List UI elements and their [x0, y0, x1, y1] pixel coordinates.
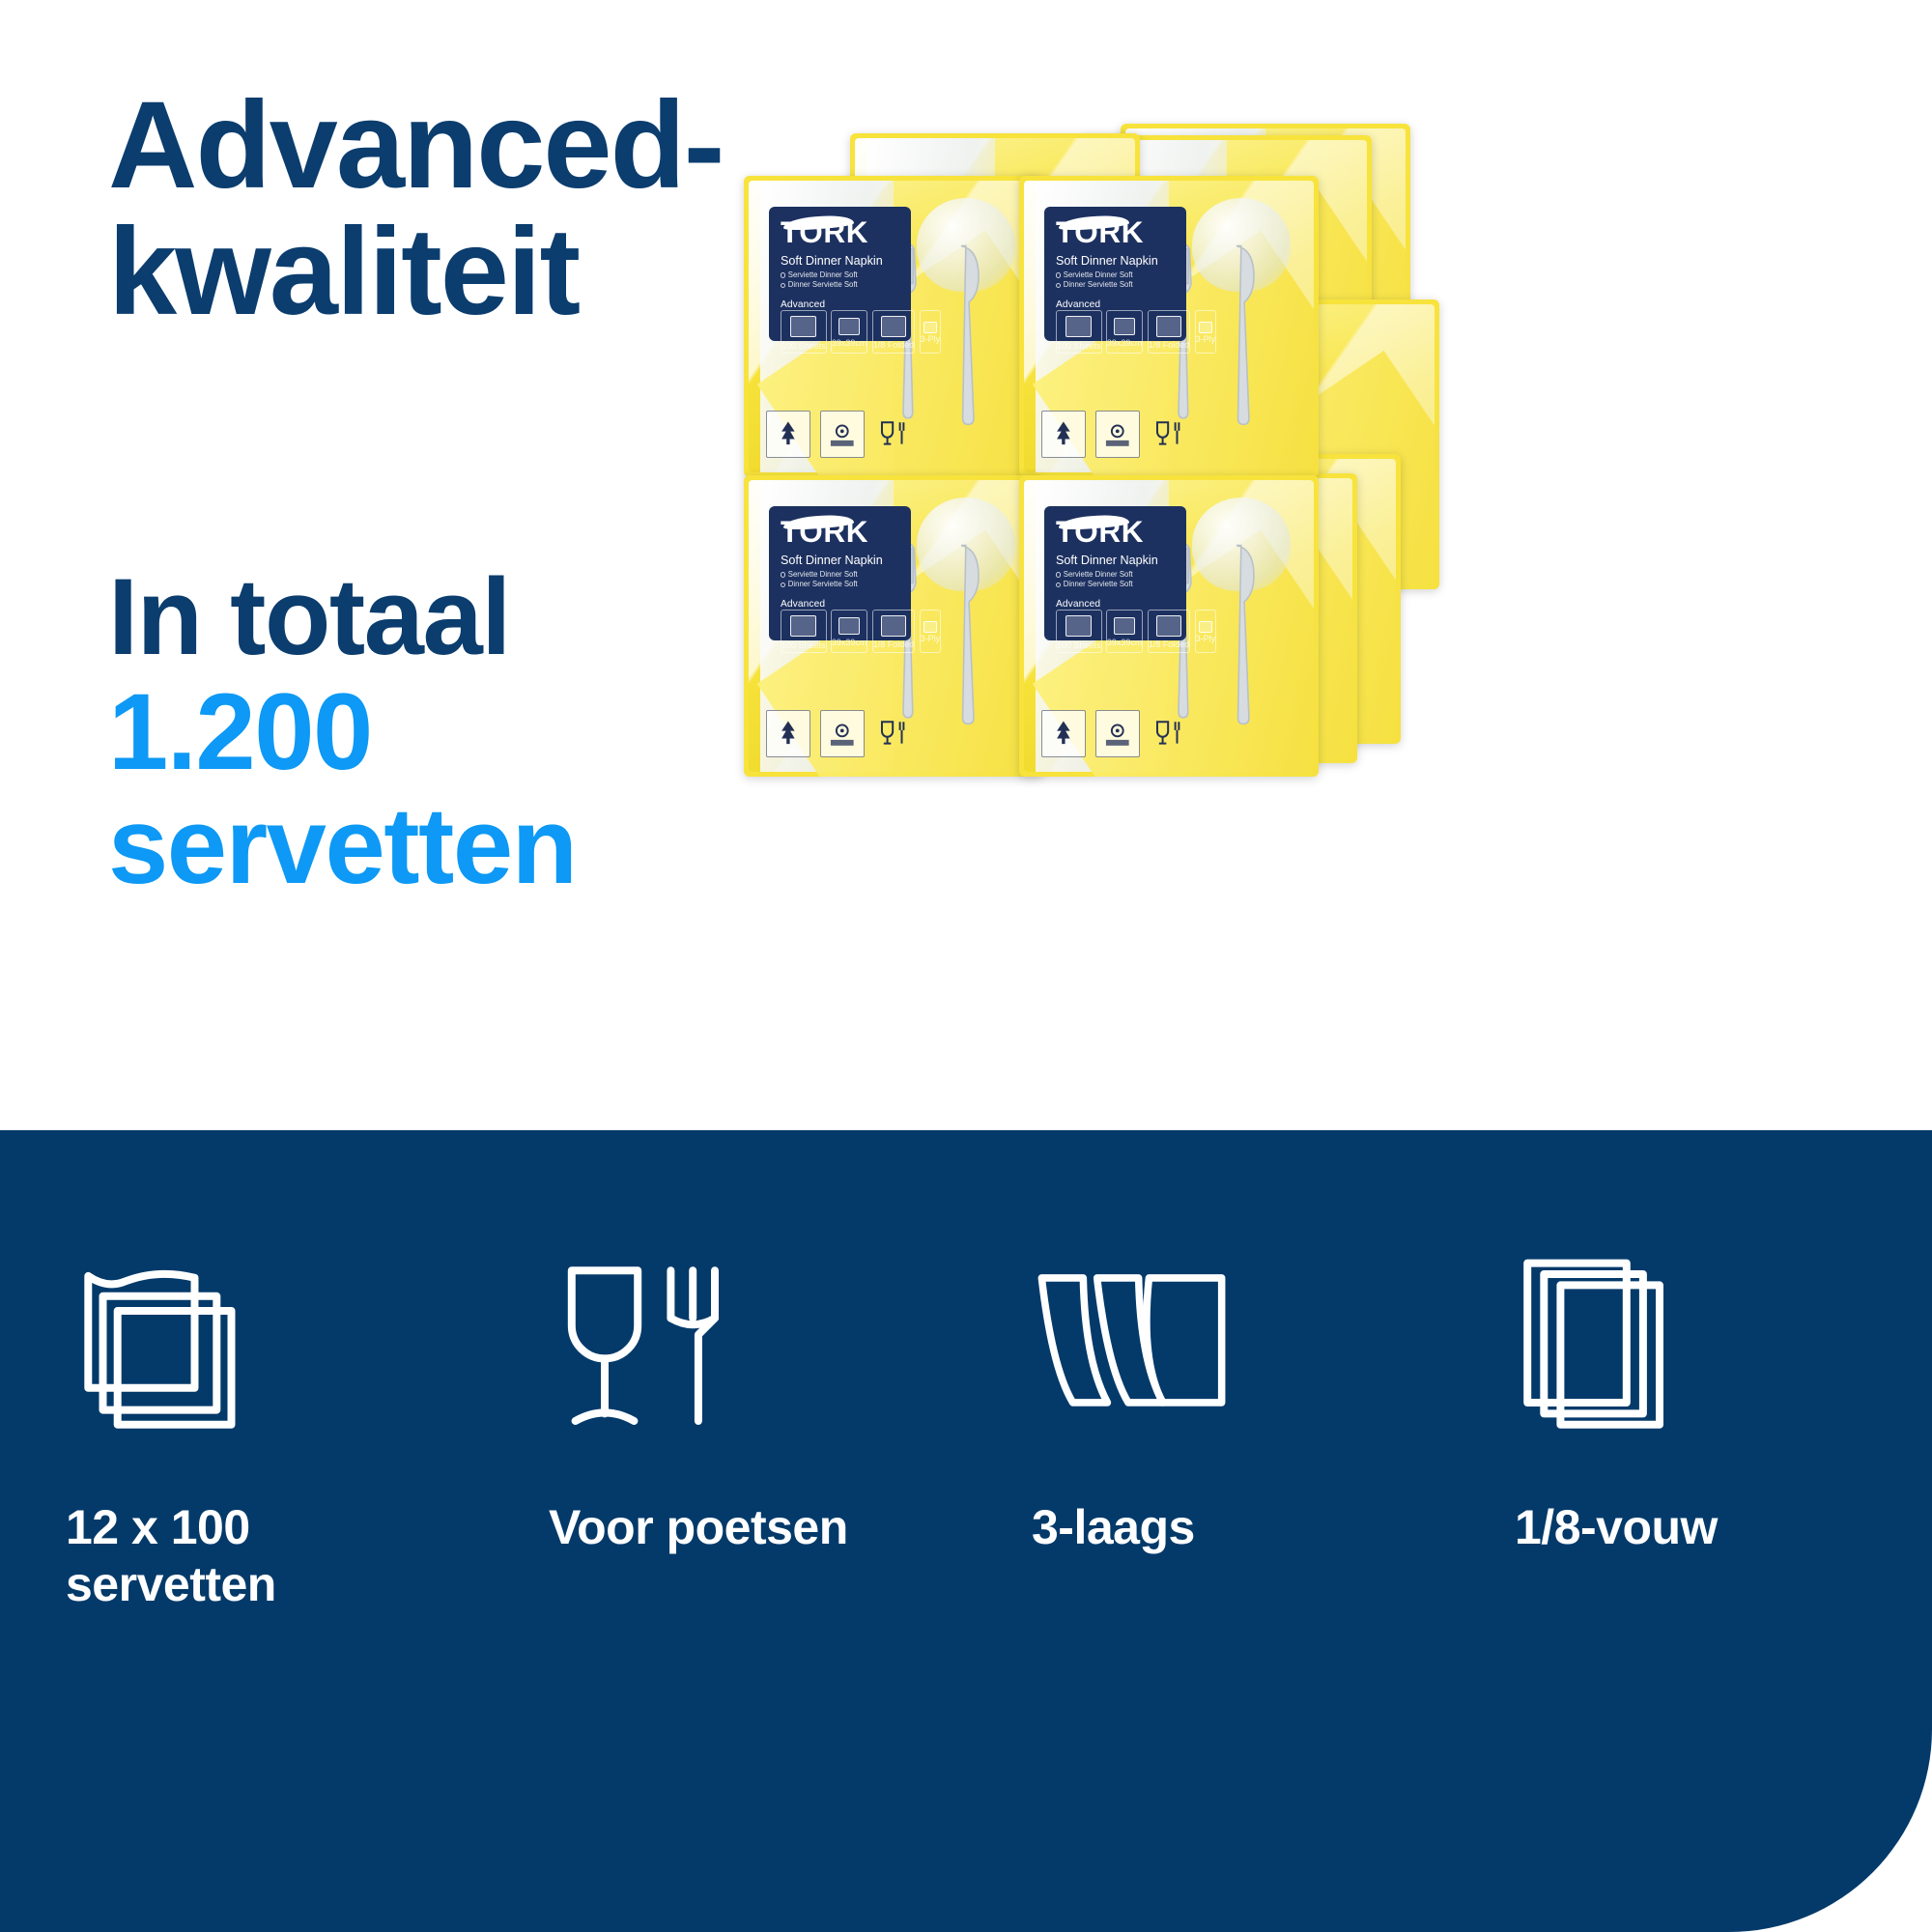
spec-caption: 1/8 Folded [873, 340, 915, 350]
spec-caption: 39x39cm [1107, 338, 1143, 348]
feature-icon-wrap [39, 1246, 444, 1449]
stacked-napkins-icon [66, 1256, 269, 1439]
spec-icon-sheets: 100 Sheets [1056, 310, 1102, 355]
napkin-sheet-icon [790, 316, 816, 337]
page-title: Advanced- kwaliteit [108, 83, 842, 335]
spec-icon-row: 100 Sheets 39x39cm 1/8 Folded [781, 610, 901, 654]
napkin-ply-icon [1199, 621, 1211, 632]
spec-caption: 3-Ply [1196, 334, 1216, 344]
translation-2: Dinner Serviette Soft [788, 580, 858, 588]
napkin-sheet-icon [1065, 615, 1092, 637]
quality-tier: Advanced [1056, 599, 1177, 610]
spec-icon-size: 39x39cm [831, 610, 868, 654]
napkin-fold-icon [1156, 316, 1180, 336]
eu-flower-icon [825, 716, 860, 751]
total-count-unit: servetten [108, 789, 842, 904]
brand-name: TORK [781, 517, 858, 548]
product-name-translations: Serviette Dinner Soft Dinner Serviette S… [1056, 270, 1177, 291]
eighth-fold-napkin-icon [1511, 1256, 1680, 1439]
food-safe-badge [1150, 712, 1192, 757]
translation-2: Dinner Serviette Soft [788, 280, 858, 289]
feature-item-pack-count: 12 x 100 servetten [0, 1130, 483, 1932]
eu-ecolabel-badge [820, 710, 865, 757]
quality-tier: Advanced [1056, 299, 1177, 310]
glass-fork-food-safe-icon [877, 716, 913, 752]
brand-name: TORK [781, 217, 858, 248]
translation-1: Serviette Dinner Soft [1064, 570, 1133, 579]
spec-icon-size: 39x39cm [831, 310, 868, 355]
product-name-translations: Serviette Dinner Soft Dinner Serviette S… [781, 570, 901, 590]
tork-logo: TORK [781, 217, 858, 248]
fsc-tree-icon [1047, 417, 1080, 450]
certification-badges [1041, 411, 1192, 458]
spec-caption: 1/8 Folded [1149, 340, 1190, 350]
glass-fork-food-safe-icon [1152, 716, 1188, 752]
spec-icon-sheets: 100 Sheets [781, 610, 827, 654]
glass-fork-food-safe-icon [877, 416, 913, 452]
translation-2: Dinner Serviette Soft [1064, 580, 1133, 588]
spec-icon-ply: 3-Ply [920, 610, 942, 654]
napkin-ply-icon [923, 322, 936, 332]
tork-logo: TORK [781, 517, 858, 548]
certification-badges [1041, 710, 1192, 757]
fsc-badge [766, 411, 810, 458]
spec-caption: 3-Ply [921, 634, 941, 643]
napkin-size-icon [838, 318, 860, 335]
spec-icon-size: 39x39cm [1106, 610, 1144, 654]
eu-ecolabel-badge [1095, 411, 1140, 458]
spec-caption: 1/8 Folded [873, 639, 915, 649]
product-pack-front: TORK Soft Dinner Napkin Serviette Dinner… [1019, 176, 1319, 477]
product-label-panel: TORK Soft Dinner Napkin Serviette Dinner… [1044, 207, 1186, 341]
headline-line-1: Advanced- [108, 83, 842, 210]
product-label-panel: TORK Soft Dinner Napkin Serviette Dinner… [769, 207, 911, 341]
product-name-translations: Serviette Dinner Soft Dinner Serviette S… [781, 270, 901, 291]
tork-logo: TORK [1056, 517, 1133, 548]
eu-flower-icon [1100, 716, 1135, 751]
product-label-panel: TORK Soft Dinner Napkin Serviette Dinner… [1044, 506, 1186, 640]
product-name: Soft Dinner Napkin [781, 255, 901, 269]
quality-tier: Advanced [781, 299, 901, 310]
bullet-icon [781, 283, 785, 288]
spec-icon-row: 100 Sheets 39x39cm 1/8 Folded [781, 310, 901, 355]
fsc-badge [1041, 710, 1086, 757]
napkin-ply-icon [923, 621, 936, 632]
bullet-icon [781, 272, 785, 277]
product-pack-front: TORK Soft Dinner Napkin Serviette Dinner… [744, 176, 1043, 477]
spec-caption: 3-Ply [1196, 634, 1216, 643]
product-name-translations: Serviette Dinner Soft Dinner Serviette S… [1056, 570, 1177, 590]
fsc-tree-icon [1047, 717, 1080, 750]
total-count-value: 1.200 [108, 675, 842, 790]
spec-icon-fold: 1/8 Folded [872, 610, 916, 654]
quality-tier: Advanced [781, 599, 901, 610]
napkin-size-icon [1114, 318, 1135, 335]
product-pack-stack: TORK Soft Dinner Napkin Serviette Dinner… [734, 116, 1430, 811]
spec-icon-sheets: 100 Sheets [781, 310, 827, 355]
certification-badges [766, 710, 917, 757]
feature-label: 3-laags [1005, 1499, 1410, 1556]
spec-caption: 100 Sheets [781, 640, 826, 650]
feature-icon-wrap [522, 1246, 927, 1449]
spec-caption: 3-Ply [921, 334, 941, 344]
spec-caption: 100 Sheets [1057, 341, 1101, 351]
feature-item-ply: 3-laags [966, 1130, 1449, 1932]
eu-flower-icon [1100, 416, 1135, 451]
headline-line-2: kwaliteit [108, 210, 842, 336]
bullet-icon [781, 582, 785, 587]
feature-panel: 12 x 100 servetten Voor poetsen [0, 1130, 1932, 1932]
translation-1: Serviette Dinner Soft [788, 570, 858, 579]
three-ply-layers-icon [1028, 1259, 1236, 1437]
feature-item-usage: Voor poetsen [483, 1130, 966, 1932]
spec-caption: 1/8 Folded [1149, 639, 1190, 649]
spec-caption: 39x39cm [832, 638, 867, 647]
fsc-badge [1041, 411, 1086, 458]
spec-icon-ply: 3-Ply [920, 310, 942, 355]
feature-label: 1/8-vouw [1488, 1499, 1893, 1556]
spec-icon-ply: 3-Ply [1195, 310, 1217, 355]
feature-icon-wrap [1005, 1246, 1410, 1449]
bullet-icon [1056, 582, 1061, 587]
translation-1: Serviette Dinner Soft [1064, 270, 1133, 279]
napkin-fold-icon [881, 316, 905, 336]
bullet-icon [781, 572, 785, 577]
fsc-badge [766, 710, 810, 757]
food-safe-badge [874, 412, 917, 458]
brand-name: TORK [1056, 217, 1133, 248]
spec-icon-fold: 1/8 Folded [872, 310, 916, 355]
fsc-tree-icon [772, 717, 805, 750]
feature-label: 12 x 100 servetten [39, 1499, 444, 1613]
product-pack-front: TORK Soft Dinner Napkin Serviette Dinner… [744, 475, 1043, 777]
translation-2: Dinner Serviette Soft [1064, 280, 1133, 289]
napkin-ply-icon [1199, 322, 1211, 332]
subheadline-line-1: In totaal [108, 560, 842, 675]
spec-icon-fold: 1/8 Folded [1148, 310, 1191, 355]
feature-label: Voor poetsen [522, 1499, 927, 1556]
napkin-size-icon [838, 617, 860, 635]
spec-icon-size: 39x39cm [1106, 310, 1144, 355]
glass-and-fork-icon [545, 1256, 738, 1439]
eu-flower-icon [825, 416, 860, 451]
food-safe-badge [874, 712, 917, 757]
product-label-panel: TORK Soft Dinner Napkin Serviette Dinner… [769, 506, 911, 640]
glass-fork-food-safe-icon [1152, 416, 1188, 452]
tork-logo: TORK [1056, 217, 1133, 248]
headline-block: Advanced- kwaliteit [108, 83, 842, 335]
product-name: Soft Dinner Napkin [781, 554, 901, 568]
napkin-fold-icon [881, 615, 905, 636]
eu-ecolabel-badge [820, 411, 865, 458]
product-marketing-card: Advanced- kwaliteit In totaal 1.200 serv… [0, 0, 1932, 1932]
napkin-fold-icon [1156, 615, 1180, 636]
napkin-sheet-icon [790, 615, 816, 637]
product-name: Soft Dinner Napkin [1056, 554, 1177, 568]
feature-item-fold: 1/8-vouw [1449, 1130, 1932, 1932]
spec-icon-row: 100 Sheets 39x39cm 1/8 Folded [1056, 610, 1177, 654]
hero-section: Advanced- kwaliteit In totaal 1.200 serv… [0, 0, 1932, 1130]
spec-icon-sheets: 100 Sheets [1056, 610, 1102, 654]
eu-ecolabel-badge [1095, 710, 1140, 757]
product-name: Soft Dinner Napkin [1056, 255, 1177, 269]
translation-1: Serviette Dinner Soft [788, 270, 858, 279]
napkin-size-icon [1114, 617, 1135, 635]
fsc-tree-icon [772, 417, 805, 450]
spec-icon-ply: 3-Ply [1195, 610, 1217, 654]
spec-caption: 39x39cm [1107, 638, 1143, 647]
bullet-icon [1056, 272, 1061, 277]
brand-name: TORK [1056, 517, 1133, 548]
feature-grid: 12 x 100 servetten Voor poetsen [0, 1130, 1932, 1932]
napkin-sheet-icon [1065, 316, 1092, 337]
spec-caption: 100 Sheets [781, 341, 826, 351]
spec-icon-fold: 1/8 Folded [1148, 610, 1191, 654]
bullet-icon [1056, 572, 1061, 577]
certification-badges [766, 411, 917, 458]
food-safe-badge [1150, 412, 1192, 458]
bullet-icon [1056, 283, 1061, 288]
spec-caption: 39x39cm [832, 338, 867, 348]
feature-icon-wrap [1488, 1246, 1893, 1449]
product-pack-front: TORK Soft Dinner Napkin Serviette Dinner… [1019, 475, 1319, 777]
spec-icon-row: 100 Sheets 39x39cm 1/8 Folded [1056, 310, 1177, 355]
subheadline-block: In totaal 1.200 servetten [108, 560, 842, 904]
spec-caption: 100 Sheets [1057, 640, 1101, 650]
